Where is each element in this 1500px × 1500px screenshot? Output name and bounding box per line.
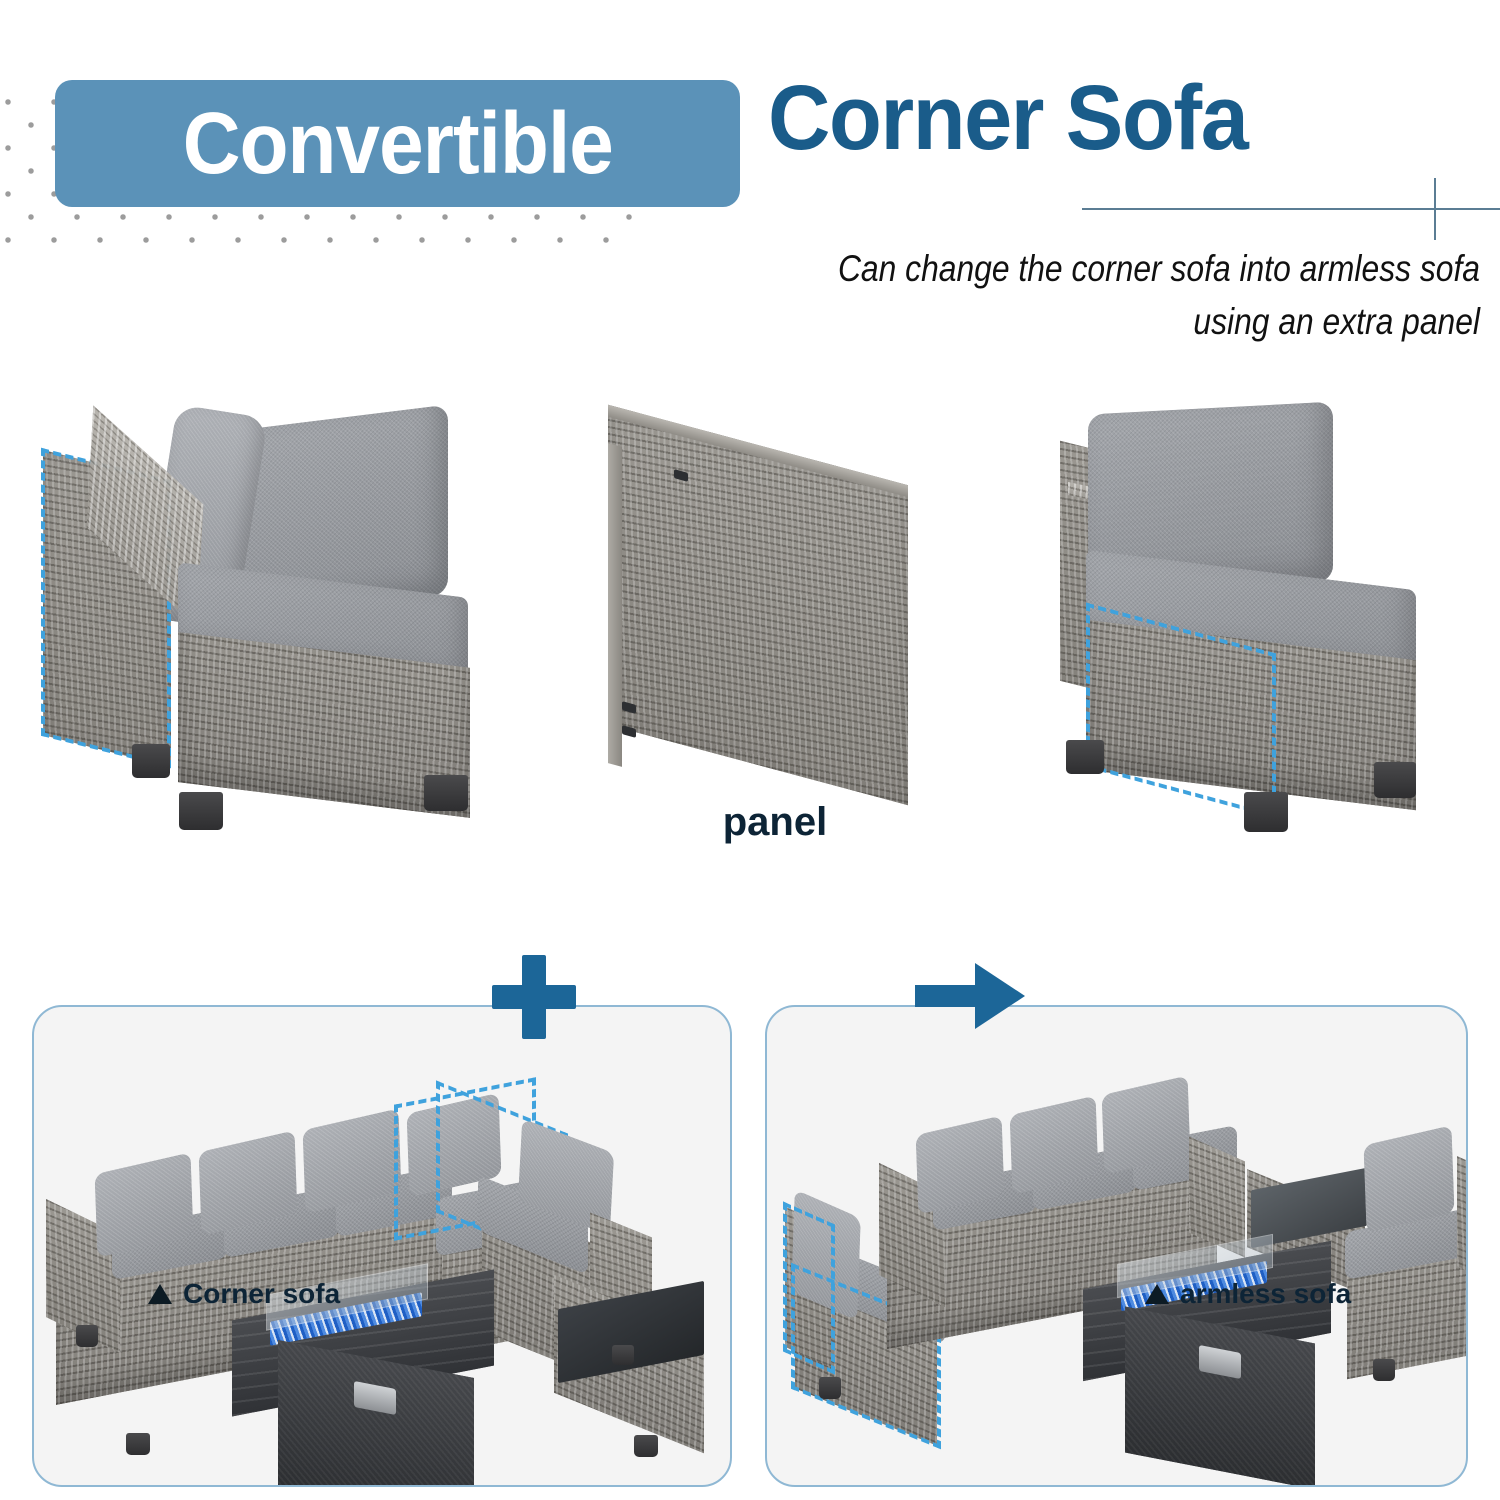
armless-sofa-figure — [1030, 400, 1470, 870]
lscene-foot-b — [126, 1433, 150, 1455]
caption-corner-sofa-label: Corner sofa — [183, 1278, 340, 1310]
panel-weave-face — [608, 405, 908, 805]
triangle-marker-icon — [1145, 1284, 1169, 1304]
conversion-diagram: panel Corner sofa — [0, 380, 1500, 960]
title-badge-label: Convertible — [182, 100, 612, 187]
corner-sofa-figure — [28, 400, 488, 870]
caption-armless-sofa: armless sofa — [1145, 1278, 1351, 1310]
armless-sofa-foot-back-left — [1066, 740, 1104, 774]
corner-sofa-foot-front-right — [179, 792, 223, 830]
lscene-foot-c — [634, 1435, 658, 1457]
header: Convertible Corner Sofa Can change the c… — [0, 0, 1500, 360]
title-badge: Convertible — [55, 80, 740, 207]
scene-card-l-shaped — [32, 1005, 732, 1487]
panel-figure — [600, 435, 930, 835]
subtitle-line-1: Can change the corner sofa into armless … — [689, 243, 1480, 296]
subtitle-line-2: using an extra panel — [689, 296, 1480, 349]
caption-armless-sofa-label: armless sofa — [1180, 1278, 1351, 1310]
armless-sofa-foot-front — [1244, 792, 1288, 832]
subtitle: Can change the corner sofa into armless … — [689, 243, 1480, 348]
caption-corner-sofa: Corner sofa — [148, 1278, 340, 1310]
plus-icon — [492, 955, 576, 1039]
title-rule-tick-mark — [1434, 178, 1436, 240]
triangle-marker-icon — [148, 1284, 172, 1304]
page-title: Corner Sofa — [768, 72, 1247, 164]
corner-sofa-foot-back-right — [424, 775, 468, 811]
rscene-right-chair-arm — [1457, 1156, 1468, 1284]
arrow-right-icon — [915, 958, 1025, 1034]
lscene-foot-d — [612, 1345, 634, 1365]
panel-left-frame — [608, 443, 622, 767]
corner-sofa-foot-front-left — [132, 744, 170, 778]
rscene-right-chair-foot — [1373, 1359, 1395, 1381]
title-underline-rule — [1082, 208, 1500, 210]
scene-card-straight-line — [765, 1005, 1468, 1487]
lscene-foot-a — [76, 1325, 98, 1347]
rscene-left-chair-foot — [819, 1377, 841, 1399]
armless-sofa-foot-right — [1374, 762, 1416, 798]
